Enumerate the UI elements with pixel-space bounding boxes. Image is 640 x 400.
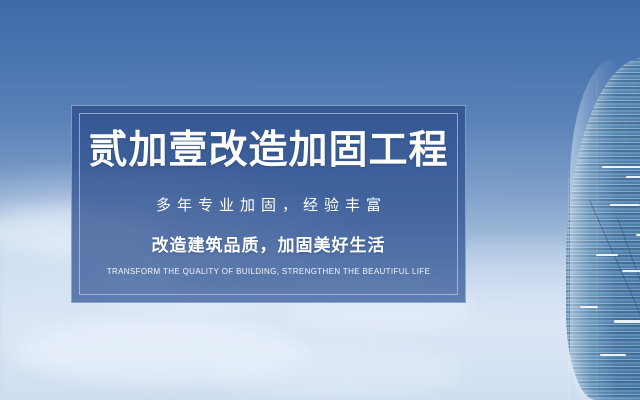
tagline: 改造建筑品质，加固美好生活	[152, 231, 386, 256]
subtitle: 多年专业加固，经验丰富	[150, 194, 387, 215]
english-tagline: TRANSFORM THE QUALITY OF BUILDING, STREN…	[107, 267, 430, 276]
hero-text-panel: 贰加壹改造加固工程 多年专业加固，经验丰富 改造建筑品质，加固美好生活 TRAN…	[71, 105, 466, 303]
page-title: 贰加壹改造加固工程	[88, 131, 448, 170]
banner-image: 贰加壹改造加固工程 多年专业加固，经验丰富 改造建筑品质，加固美好生活 TRAN…	[0, 0, 640, 400]
